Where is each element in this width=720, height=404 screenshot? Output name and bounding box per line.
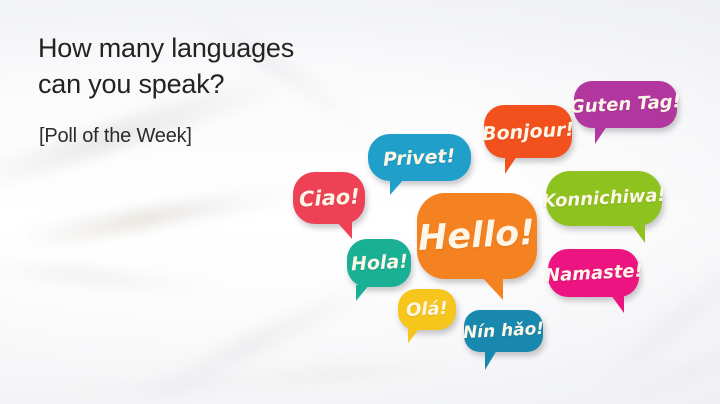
speech-bubble-namaste: Namaste! — [548, 249, 639, 297]
speech-bubble-label: Nín hǎo! — [462, 319, 544, 343]
speech-bubble-cluster: Ciao! Privet! Hola! Olá! Bonjour! Guten … — [0, 0, 720, 404]
speech-bubble-privet: Privet! — [368, 134, 471, 181]
poll-slide: How many languages can you speak? [Poll … — [0, 0, 720, 404]
speech-bubble-tail — [390, 179, 404, 195]
speech-bubble-tail — [611, 295, 624, 313]
speech-bubble-nin-hao: Nín hǎo! — [464, 310, 543, 352]
speech-bubble-guten-tag: Guten Tag! — [574, 81, 677, 128]
speech-bubble-label: Namaste! — [544, 260, 643, 286]
speech-bubble-hello: Hello! — [417, 193, 537, 279]
speech-bubble-tail — [505, 156, 517, 174]
speech-bubble-ola: Olá! — [398, 289, 456, 330]
speech-bubble-bonjour: Bonjour! — [484, 105, 572, 158]
speech-bubble-label: Hola! — [350, 251, 408, 276]
speech-bubble-label: Privet! — [383, 145, 456, 171]
speech-bubble-tail — [356, 285, 369, 301]
speech-bubble-label: Olá! — [406, 298, 449, 321]
speech-bubble-label: Hello! — [418, 213, 537, 259]
speech-bubble-ciao: Ciao! — [293, 172, 365, 224]
speech-bubble-tail — [337, 222, 352, 239]
speech-bubble-label: Konnichiwa! — [542, 185, 667, 212]
speech-bubble-konnichiwa: Konnichiwa! — [546, 171, 662, 226]
speech-bubble-tail — [485, 350, 497, 370]
speech-bubble-hola: Hola! — [347, 239, 411, 287]
speech-bubble-label: Bonjour! — [481, 118, 574, 145]
speech-bubble-tail — [631, 224, 645, 243]
speech-bubble-tail — [481, 276, 503, 300]
speech-bubble-label: Ciao! — [298, 184, 360, 211]
speech-bubble-label: Guten Tag! — [570, 91, 682, 118]
speech-bubble-tail — [408, 328, 420, 343]
speech-bubble-tail — [595, 126, 607, 144]
